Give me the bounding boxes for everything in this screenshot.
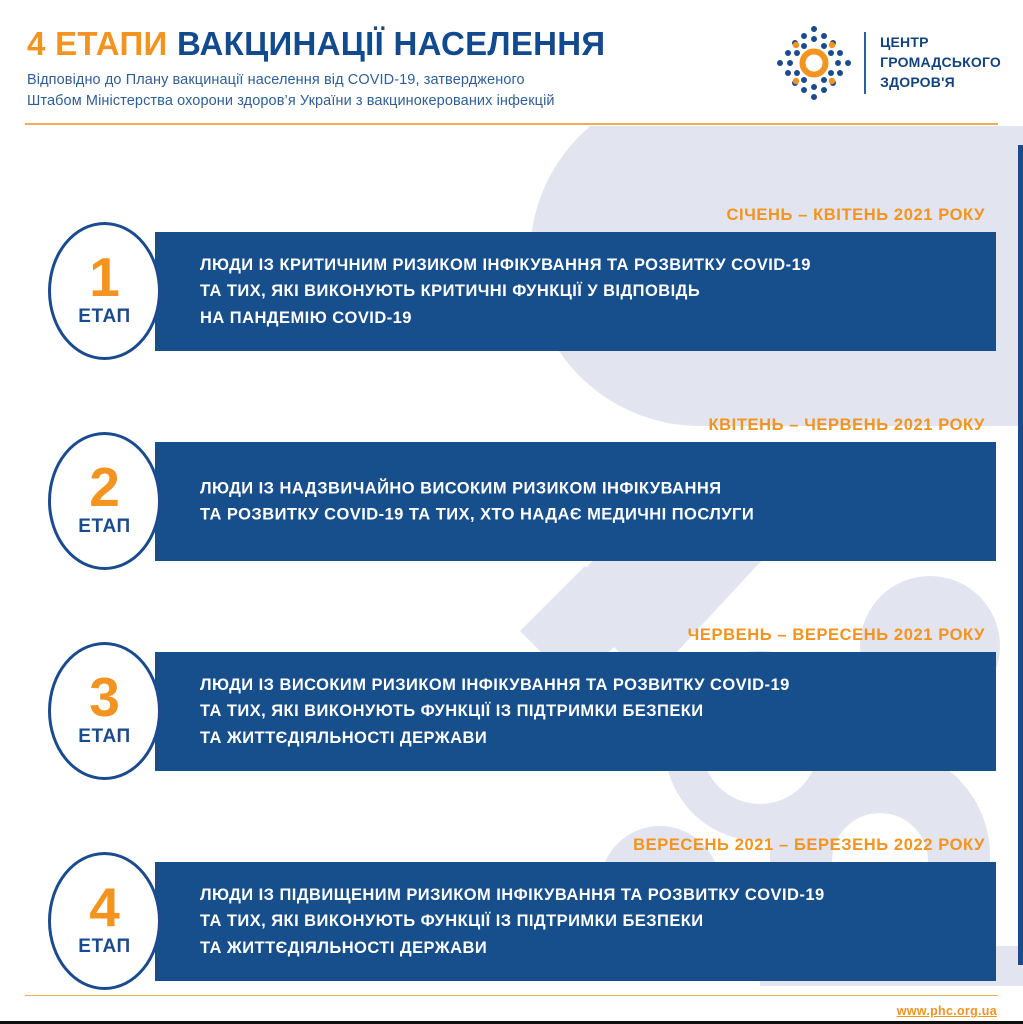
stage-2-date-range: КВІТЕНЬ – ЧЕРВЕНЬ 2021 РОКУ	[708, 416, 985, 435]
stage-4-bar: ЛЮДИ ІЗ ПІДВИЩЕНИМ РИЗИКОМ ІНФІКУВАННЯ Т…	[155, 862, 996, 981]
stage-2-caption: ЕТАП	[78, 516, 131, 538]
page-title: 4 ЕТАПИ ВАКЦИНАЦІЇ НАСЕЛЕННЯ	[27, 27, 605, 60]
page-subtitle: Відповідно до Плану вакцинації населення…	[27, 70, 555, 112]
stage-4-description: ЛЮДИ ІЗ ПІДВИЩЕНИМ РИЗИКОМ ІНФІКУВАННЯ Т…	[200, 881, 825, 961]
stage-4-caption: ЕТАП	[78, 936, 131, 958]
poster-header: 4 ЕТАПИ ВАКЦИНАЦІЇ НАСЕЛЕННЯ Відповідно …	[0, 0, 1023, 126]
stage-1-number: 1	[89, 252, 120, 303]
logo-wordmark-line-1: ЦЕНТР	[880, 33, 1001, 53]
stage-3-date-range: ЧЕРВЕНЬ – ВЕРЕСЕНЬ 2021 РОКУ	[688, 626, 985, 645]
infographic-poster: 4 ЕТАПИ ВАКЦИНАЦІЇ НАСЕЛЕННЯ Відповідно …	[0, 0, 1023, 1024]
page-title-main: ВАКЦИНАЦІЇ НАСЕЛЕННЯ	[177, 25, 605, 62]
stage-item-3: ЧЕРВЕНЬ – ВЕРЕСЕНЬ 2021 РОКУ ЛЮДИ ІЗ ВИС…	[0, 582, 1023, 792]
dot-mandala-icon	[774, 23, 854, 103]
stage-4-number: 4	[89, 882, 120, 933]
page-subtitle-line-1: Відповідно до Плану вакцинації населення…	[27, 70, 555, 91]
stage-3-number: 3	[89, 672, 120, 723]
stage-3-caption: ЕТАП	[78, 726, 131, 748]
stage-item-1: СІЧЕНЬ – КВІТЕНЬ 2021 РОКУ ЛЮДИ ІЗ КРИТИ…	[0, 162, 1023, 372]
logo-wordmark: ЦЕНТР ГРОМАДСЬКОГО ЗДОРОВ'Я	[880, 33, 1001, 93]
stage-4-date-range: ВЕРЕСЕНЬ 2021 – БЕРЕЗЕНЬ 2022 РОКУ	[633, 836, 985, 855]
header-divider	[25, 123, 998, 125]
stage-item-2: КВІТЕНЬ – ЧЕРВЕНЬ 2021 РОКУ ЛЮДИ ІЗ НАДЗ…	[0, 372, 1023, 582]
stage-2-badge: 2 ЕТАП	[48, 432, 161, 570]
stage-3-bar: ЛЮДИ ІЗ ВИСОКИМ РИЗИКОМ ІНФІКУВАННЯ ТА Р…	[155, 652, 996, 771]
logo-wordmark-line-3: ЗДОРОВ'Я	[880, 73, 1001, 93]
stage-1-description: ЛЮДИ ІЗ КРИТИЧНИМ РИЗИКОМ ІНФІКУВАННЯ ТА…	[200, 251, 811, 331]
stage-1-date-range: СІЧЕНЬ – КВІТЕНЬ 2021 РОКУ	[727, 206, 986, 225]
organization-logo: ЦЕНТР ГРОМАДСЬКОГО ЗДОРОВ'Я	[774, 22, 1001, 104]
stage-3-badge: 3 ЕТАП	[48, 642, 161, 780]
footer-divider	[25, 995, 998, 997]
stage-2-number: 2	[89, 462, 120, 513]
stage-1-caption: ЕТАП	[78, 306, 131, 328]
stage-item-4: ВЕРЕСЕНЬ 2021 – БЕРЕЗЕНЬ 2022 РОКУ ЛЮДИ …	[0, 792, 1023, 1002]
stage-3-description: ЛЮДИ ІЗ ВИСОКИМ РИЗИКОМ ІНФІКУВАННЯ ТА Р…	[200, 671, 790, 751]
logo-divider	[864, 32, 866, 94]
stage-2-bar: ЛЮДИ ІЗ НАДЗВИЧАЙНО ВИСОКИМ РИЗИКОМ ІНФІ…	[155, 442, 996, 561]
stage-1-bar: ЛЮДИ ІЗ КРИТИЧНИМ РИЗИКОМ ІНФІКУВАННЯ ТА…	[155, 232, 996, 351]
page-title-accent: 4 ЕТАПИ	[27, 25, 168, 62]
stage-4-badge: 4 ЕТАП	[48, 852, 161, 990]
stages-timeline: СІЧЕНЬ – КВІТЕНЬ 2021 РОКУ ЛЮДИ ІЗ КРИТИ…	[0, 126, 1023, 986]
logo-wordmark-line-2: ГРОМАДСЬКОГО	[880, 53, 1001, 73]
page-subtitle-line-2: Штабом Міністерства охорони здоров’я Укр…	[27, 91, 555, 112]
stage-2-description: ЛЮДИ ІЗ НАДЗВИЧАЙНО ВИСОКИМ РИЗИКОМ ІНФІ…	[200, 475, 754, 528]
stage-1-badge: 1 ЕТАП	[48, 222, 161, 360]
footer-website-link[interactable]: www.phc.org.ua	[897, 1004, 997, 1018]
